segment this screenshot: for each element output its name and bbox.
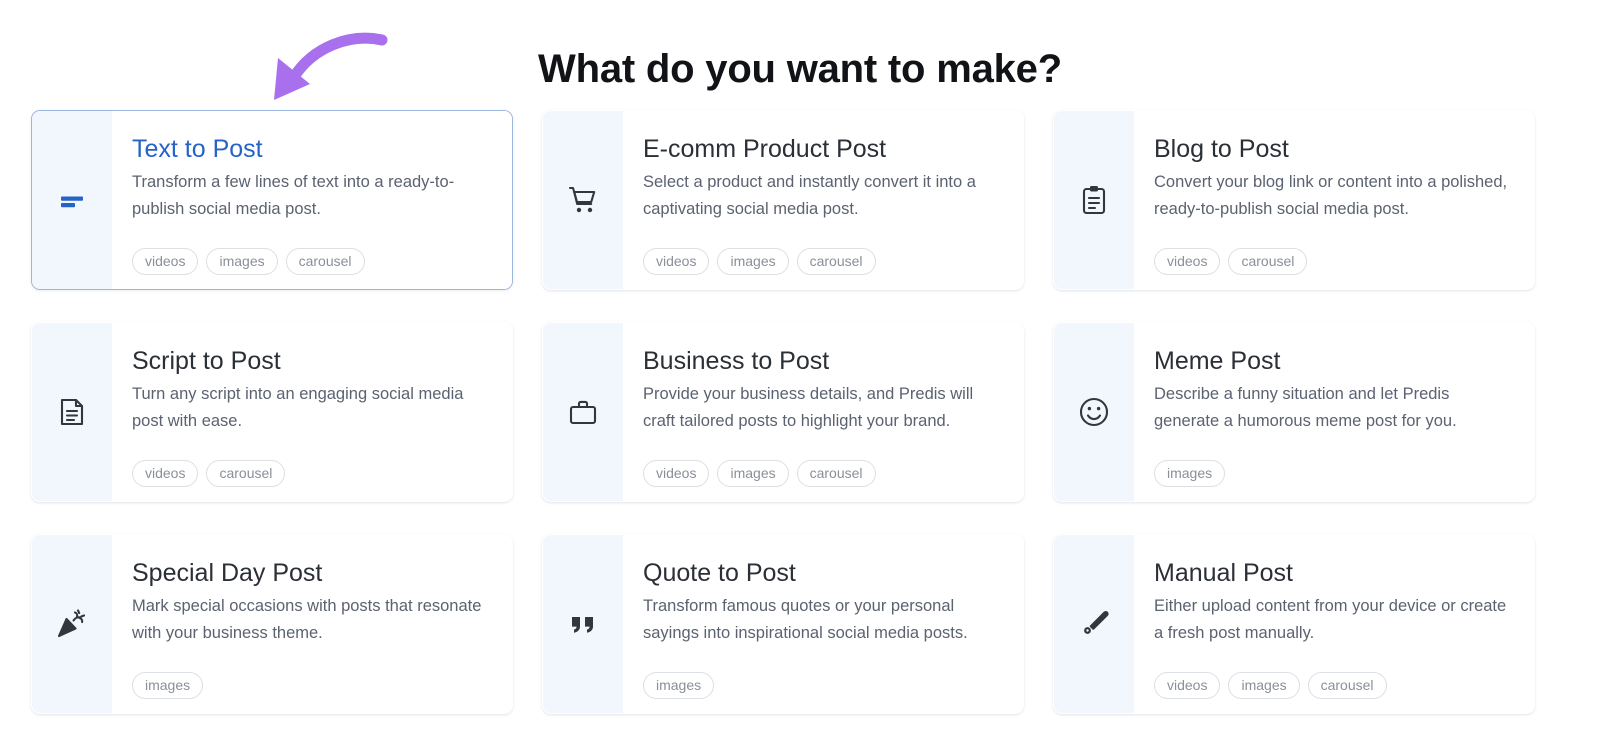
card-title: E-comm Product Post [643, 135, 1005, 163]
card-body: Script to PostTurn any script into an en… [112, 323, 512, 501]
tag-pill: videos [1154, 672, 1220, 699]
post-type-card-special-day-post[interactable]: Special Day PostMark special occasions w… [31, 534, 513, 714]
briefcase-icon [543, 323, 623, 501]
post-type-card-manual-post[interactable]: Manual PostEither upload content from yo… [1053, 534, 1535, 714]
card-body: Special Day PostMark special occasions w… [112, 535, 512, 713]
card-tag-list: images [132, 662, 494, 699]
card-tag-list: images [1154, 450, 1516, 487]
tag-pill: carousel [1228, 248, 1307, 275]
card-body: Blog to PostConvert your blog link or co… [1134, 111, 1534, 289]
tag-pill: carousel [797, 460, 876, 487]
card-title: Script to Post [132, 347, 494, 375]
card-title: Text to Post [132, 135, 494, 163]
tag-pill: carousel [797, 248, 876, 275]
card-body: Business to PostProvide your business de… [623, 323, 1023, 501]
card-body: Manual PostEither upload content from yo… [1134, 535, 1534, 713]
tag-pill: carousel [286, 248, 365, 275]
card-tag-list: images [643, 662, 1005, 699]
card-description: Select a product and instantly convert i… [643, 169, 1003, 222]
tag-pill: videos [132, 248, 198, 275]
shopping-cart-icon [543, 111, 623, 289]
card-title: Blog to Post [1154, 135, 1516, 163]
tag-pill: videos [1154, 248, 1220, 275]
card-body: Meme PostDescribe a funny situation and … [1134, 323, 1534, 501]
card-body: E-comm Product PostSelect a product and … [623, 111, 1023, 289]
card-description: Provide your business details, and Predi… [643, 381, 1003, 434]
card-tag-list: videosimagescarousel [643, 238, 1005, 275]
tag-pill: images [206, 248, 277, 275]
quotation-marks-icon [543, 535, 623, 713]
post-type-card-text-to-post[interactable]: Text to PostTransform a few lines of tex… [31, 110, 513, 290]
card-description: Mark special occasions with posts that r… [132, 593, 492, 646]
card-description: Turn any script into an engaging social … [132, 381, 492, 434]
card-body: Text to PostTransform a few lines of tex… [112, 111, 512, 289]
card-tag-list: videoscarousel [1154, 238, 1516, 275]
tag-pill: videos [643, 460, 709, 487]
card-body: Quote to PostTransform famous quotes or … [623, 535, 1023, 713]
tag-pill: videos [643, 248, 709, 275]
post-type-card-meme-post[interactable]: Meme PostDescribe a funny situation and … [1053, 322, 1535, 502]
tag-pill: images [717, 248, 788, 275]
tag-pill: images [1154, 460, 1225, 487]
card-description: Convert your blog link or content into a… [1154, 169, 1514, 222]
card-title: Meme Post [1154, 347, 1516, 375]
tag-pill: carousel [206, 460, 285, 487]
tag-pill: images [132, 672, 203, 699]
text-lines-icon [32, 111, 112, 289]
card-tag-list: videosimagescarousel [132, 238, 494, 275]
post-type-card-business-to-post[interactable]: Business to PostProvide your business de… [542, 322, 1024, 502]
document-icon [32, 323, 112, 501]
card-tag-list: videoscarousel [132, 450, 494, 487]
tag-pill: images [643, 672, 714, 699]
tag-pill: videos [132, 460, 198, 487]
party-popper-icon [32, 535, 112, 713]
card-description: Describe a funny situation and let Predi… [1154, 381, 1514, 434]
tag-pill: carousel [1308, 672, 1387, 699]
post-type-card-blog-to-post[interactable]: Blog to PostConvert your blog link or co… [1053, 110, 1535, 290]
tag-pill: images [717, 460, 788, 487]
tag-pill: images [1228, 672, 1299, 699]
smiley-face-icon [1054, 323, 1134, 501]
post-type-card-grid: Text to PostTransform a few lines of tex… [31, 110, 1536, 714]
clipboard-icon [1054, 111, 1134, 289]
post-type-card-script-to-post[interactable]: Script to PostTurn any script into an en… [31, 322, 513, 502]
card-description: Transform a few lines of text into a rea… [132, 169, 492, 222]
card-title: Special Day Post [132, 559, 494, 587]
card-tag-list: videosimagescarousel [1154, 662, 1516, 699]
page-title: What do you want to make? [0, 45, 1600, 93]
card-title: Manual Post [1154, 559, 1516, 587]
post-type-card-quote-to-post[interactable]: Quote to PostTransform famous quotes or … [542, 534, 1024, 714]
create-post-chooser-page: What do you want to make? Text to PostTr… [0, 0, 1600, 755]
card-title: Business to Post [643, 347, 1005, 375]
card-title: Quote to Post [643, 559, 1005, 587]
post-type-card-ecomm-product-post[interactable]: E-comm Product PostSelect a product and … [542, 110, 1024, 290]
card-description: Either upload content from your device o… [1154, 593, 1514, 646]
paintbrush-icon [1054, 535, 1134, 713]
card-tag-list: videosimagescarousel [643, 450, 1005, 487]
card-description: Transform famous quotes or your personal… [643, 593, 1003, 646]
